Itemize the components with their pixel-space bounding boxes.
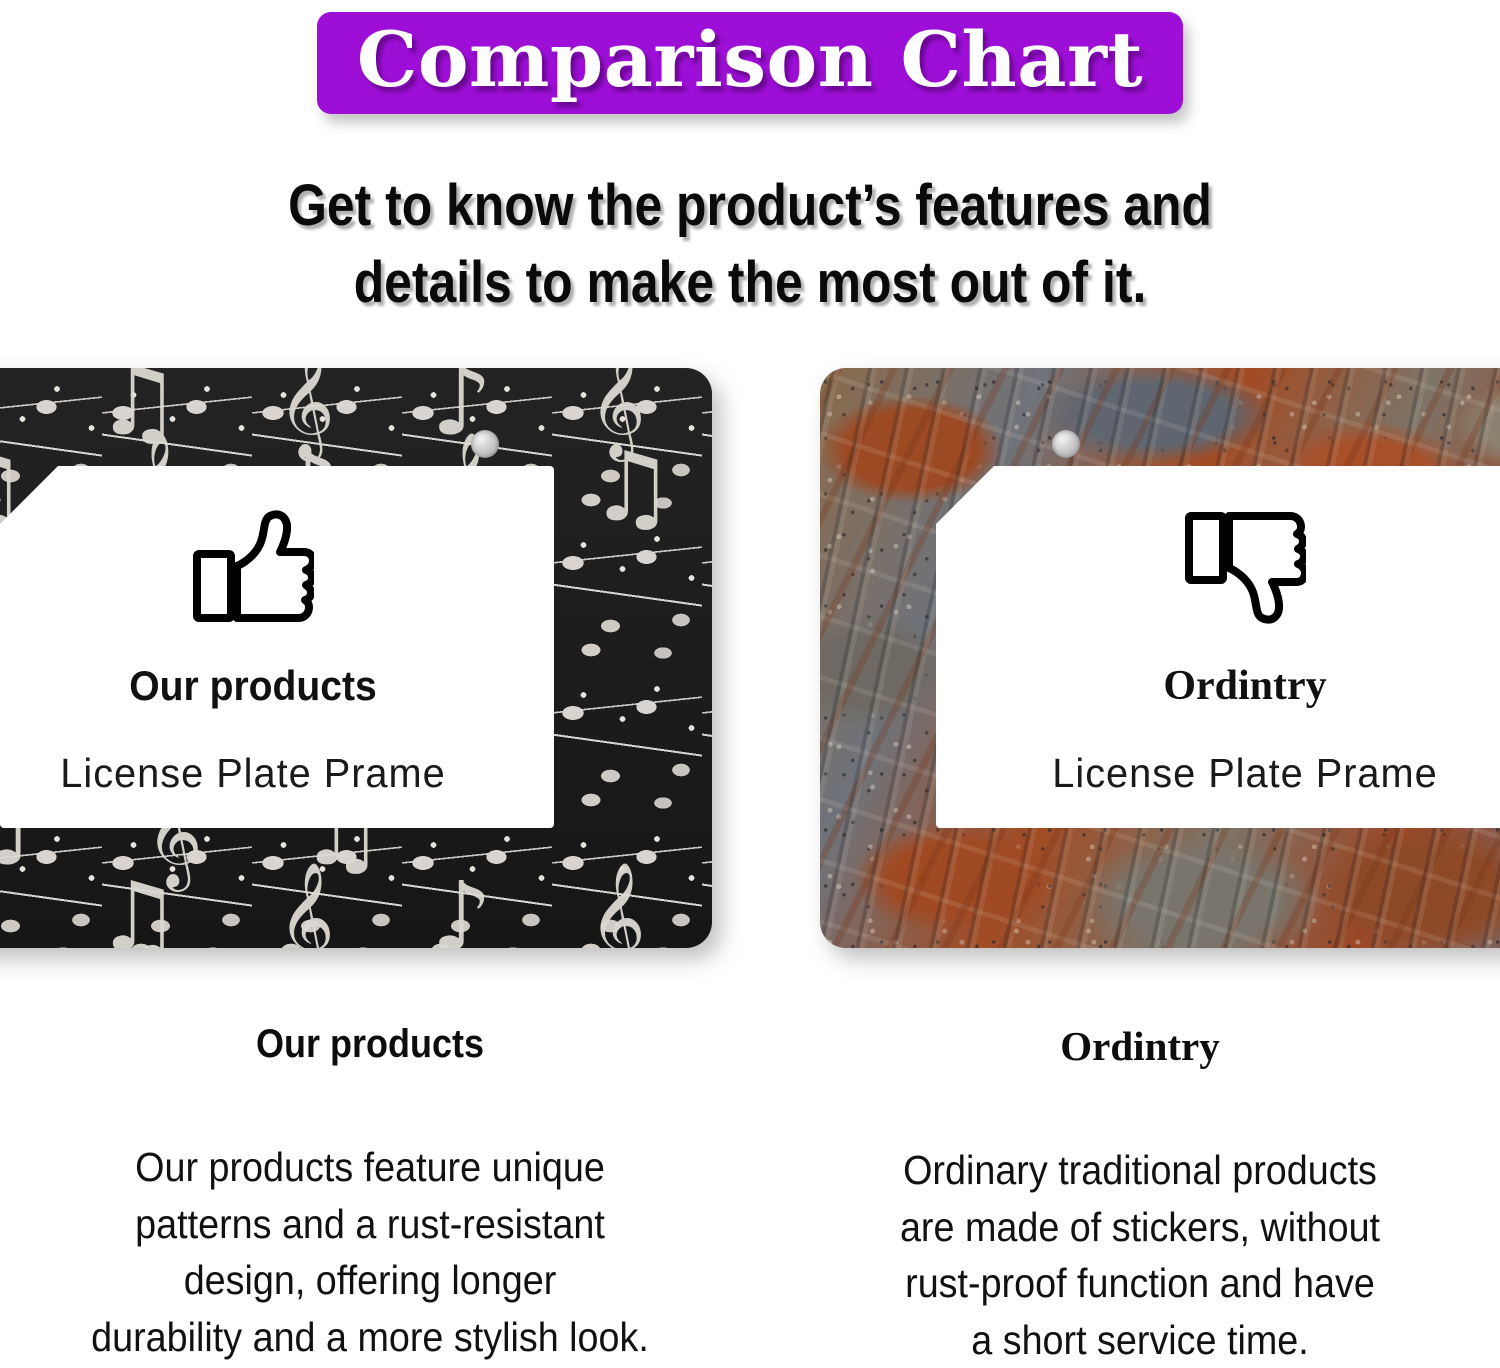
body-line: are made of stickers, without	[818, 1199, 1462, 1256]
our-product-description-column: Our products Our products feature unique…	[20, 1022, 720, 1365]
body-line: Our products feature unique	[48, 1139, 692, 1196]
plate-heading: Our products	[0, 662, 533, 710]
clef-row-3: 𝄞 ♫ 𝄞 ♪ 𝄞 ♫ 𝄞 ♪ 𝄞 ♫ 𝄞	[0, 874, 712, 948]
plate-heading: Ordintry	[936, 662, 1500, 710]
ordinary-product-description-column: Ordintry Ordinary traditional products a…	[790, 1022, 1490, 1368]
body-line: patterns and a rust-resistant	[48, 1196, 692, 1253]
comparison-chart-banner: Comparison Chart	[317, 12, 1183, 114]
column-body: Our products feature unique patterns and…	[48, 1139, 692, 1365]
thumbs-down-icon	[1184, 508, 1306, 626]
column-body: Ordinary traditional products are made o…	[818, 1142, 1462, 1368]
body-line: rust-proof function and have	[818, 1255, 1462, 1312]
column-heading: Ordintry	[790, 1022, 1490, 1070]
plate-subheading: License Plate Prame	[945, 750, 1500, 797]
our-product-plate-content: Our products License Plate Prame	[0, 508, 554, 797]
body-line: design, offering longer	[48, 1252, 692, 1309]
screw-hole	[1052, 430, 1080, 458]
header-banner-wrapper: Comparison Chart	[0, 12, 1500, 114]
our-product-frame: 𝄞 ♫ 𝄞 ♪ 𝄞 ♫ 𝄞 ♪ 𝄞 ♫ 𝄞 ♪ 𝄞 ♫ 𝄞 ♪ 𝄞 ♫ 𝄞 ♪ …	[0, 368, 712, 948]
product-frames-row: 𝄞 ♫ 𝄞 ♪ 𝄞 ♫ 𝄞 ♪ 𝄞 ♫ 𝄞 ♪ 𝄞 ♫ 𝄞 ♪ 𝄞 ♫ 𝄞 ♪ …	[0, 368, 1500, 958]
body-line: a short service time.	[818, 1312, 1462, 1368]
page-title: Comparison Chart	[357, 22, 1143, 98]
comparison-description-row: Our products Our products feature unique…	[0, 1022, 1500, 1364]
ordinary-product-frame: Ordintry License Plate Prame	[820, 368, 1500, 948]
subtitle-line-2: details to make the most out of it.	[105, 245, 1395, 322]
plate-subheading: License Plate Prame	[0, 750, 545, 797]
body-line: Ordinary traditional products	[818, 1142, 1462, 1199]
column-heading: Our products	[55, 1022, 685, 1067]
ordinary-product-plate-content: Ordintry License Plate Prame	[936, 508, 1500, 797]
subtitle: Get to know the product’s features and d…	[105, 168, 1395, 321]
screw-hole	[471, 430, 499, 458]
body-line: durability and a more stylish look.	[48, 1309, 692, 1366]
thumbs-up-icon	[192, 508, 314, 626]
subtitle-line-1: Get to know the product’s features and	[105, 168, 1395, 245]
